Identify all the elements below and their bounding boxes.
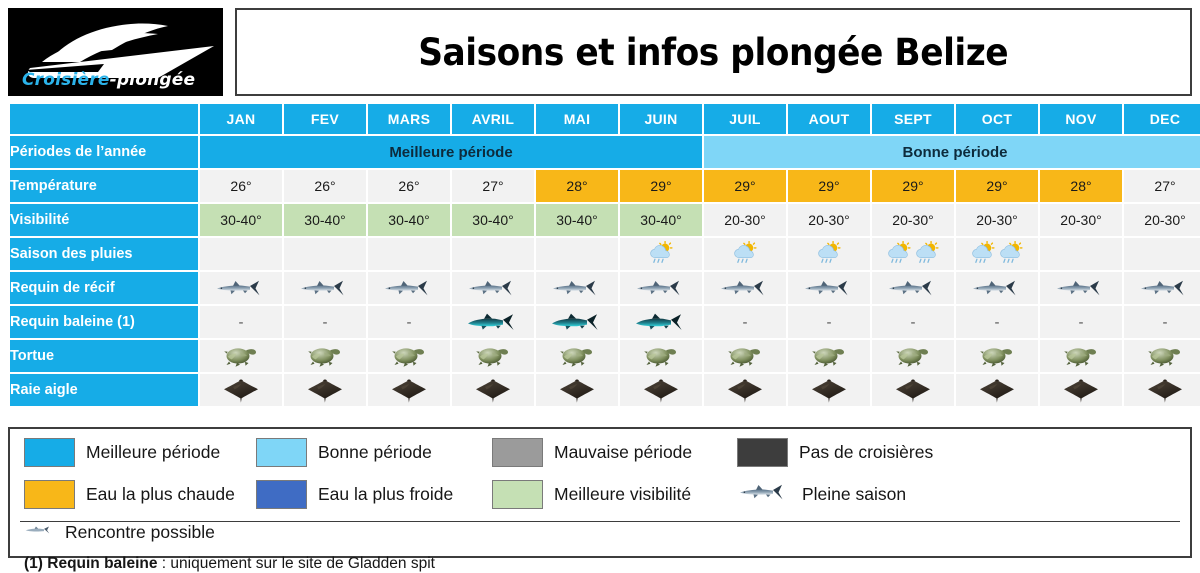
icon-group bbox=[788, 238, 870, 270]
data-cell[interactable]: 26° bbox=[284, 170, 366, 202]
icon-cell[interactable] bbox=[956, 340, 1038, 372]
seasons-table: JANFEVMARSAVRILMAIJUINJUILAOUTSEPTOCTNOV… bbox=[8, 102, 1200, 408]
legend-color-swatch bbox=[256, 480, 307, 509]
infographic-page: Croisière-plongée Saisons et infos plong… bbox=[0, 0, 1200, 566]
icon-cell[interactable]: - bbox=[788, 306, 870, 338]
legend-label: Bonne période bbox=[318, 442, 432, 463]
icon-cell[interactable] bbox=[1040, 272, 1122, 304]
eagle-ray-icon bbox=[641, 377, 681, 403]
icon-cell[interactable] bbox=[788, 374, 870, 406]
icon-group bbox=[956, 340, 1038, 372]
icon-cell[interactable] bbox=[284, 340, 366, 372]
icon-cell[interactable] bbox=[704, 374, 786, 406]
icon-cell[interactable] bbox=[704, 272, 786, 304]
icon-cell[interactable] bbox=[1040, 340, 1122, 372]
icon-group bbox=[956, 374, 1038, 406]
month-header-nov[interactable]: NOV bbox=[1040, 104, 1122, 134]
icon-cell[interactable] bbox=[872, 374, 954, 406]
icon-group bbox=[284, 272, 366, 304]
data-cell[interactable]: 29° bbox=[872, 170, 954, 202]
reef-shark-icon bbox=[718, 278, 772, 298]
reef-shark-icon bbox=[737, 482, 791, 502]
reef-shark-icon bbox=[970, 278, 1024, 298]
data-cell[interactable]: 26° bbox=[368, 170, 450, 202]
empty-marker: - bbox=[743, 314, 748, 331]
month-header-fev[interactable]: FEV bbox=[284, 104, 366, 134]
legend-item[interactable]: Eau la plus chaude bbox=[24, 480, 256, 509]
month-header-mars[interactable]: MARS bbox=[368, 104, 450, 134]
data-cell[interactable]: 26° bbox=[200, 170, 282, 202]
legend-label: Pas de croisières bbox=[799, 442, 933, 463]
icon-group bbox=[956, 272, 1038, 304]
icon-cell[interactable]: - bbox=[872, 306, 954, 338]
eagle-ray-icon bbox=[893, 377, 933, 403]
icon-cell[interactable] bbox=[956, 272, 1038, 304]
icon-group bbox=[1124, 374, 1200, 406]
eagle-ray-icon bbox=[305, 377, 345, 403]
icon-group bbox=[788, 374, 870, 406]
legend-label: Rencontre possible bbox=[65, 522, 215, 543]
icon-group bbox=[620, 340, 702, 372]
month-header-jan[interactable]: JAN bbox=[200, 104, 282, 134]
icon-group bbox=[620, 238, 702, 270]
row-label: Raie aigle bbox=[10, 374, 198, 406]
turtle-icon bbox=[641, 343, 681, 369]
icon-group bbox=[620, 374, 702, 406]
icon-group bbox=[452, 306, 534, 338]
legend-label: Pleine saison bbox=[802, 484, 906, 505]
reef-shark-icon bbox=[382, 278, 436, 298]
page-header: Croisière-plongée Saisons et infos plong… bbox=[0, 0, 1200, 96]
table-row: Tortue bbox=[10, 340, 1200, 372]
row-label: Requin de récif bbox=[10, 272, 198, 304]
turtle-icon bbox=[221, 343, 261, 369]
legend-color-swatch bbox=[492, 480, 543, 509]
icon-group bbox=[536, 340, 618, 372]
icon-cell[interactable] bbox=[620, 374, 702, 406]
icon-group bbox=[704, 272, 786, 304]
icon-group bbox=[1040, 272, 1122, 304]
data-cell[interactable]: 28° bbox=[1040, 170, 1122, 202]
reef-shark-icon bbox=[214, 278, 268, 298]
icon-group bbox=[620, 272, 702, 304]
empty-marker: - bbox=[323, 314, 328, 331]
icon-group bbox=[200, 272, 282, 304]
empty-marker: - bbox=[1163, 314, 1168, 331]
icon-group bbox=[956, 238, 1038, 270]
data-cell[interactable]: 20-30° bbox=[872, 204, 954, 236]
icon-group bbox=[284, 374, 366, 406]
data-cell[interactable]: 30-40° bbox=[368, 204, 450, 236]
icon-group bbox=[1124, 272, 1200, 304]
rain-cloud-sun-icon bbox=[648, 241, 674, 267]
empty-marker: - bbox=[995, 314, 1000, 331]
icon-cell[interactable] bbox=[200, 238, 282, 270]
icon-cell[interactable] bbox=[872, 272, 954, 304]
month-header-avril[interactable]: AVRIL bbox=[452, 104, 534, 134]
rain-cloud-sun-icon bbox=[998, 241, 1024, 267]
reef-shark-small-icon bbox=[24, 523, 54, 537]
turtle-icon bbox=[473, 343, 513, 369]
icon-cell[interactable] bbox=[368, 272, 450, 304]
row-label: Tortue bbox=[10, 340, 198, 372]
rain-cloud-sun-icon bbox=[816, 241, 842, 267]
turtle-icon bbox=[977, 343, 1017, 369]
rain-cloud-sun-icon bbox=[886, 241, 912, 267]
turtle-icon bbox=[305, 343, 345, 369]
icon-cell[interactable] bbox=[284, 374, 366, 406]
legend-label: Eau la plus chaude bbox=[86, 484, 235, 505]
legend-shark-icon bbox=[737, 482, 791, 507]
reef-shark-icon bbox=[1138, 278, 1192, 298]
icon-cell[interactable]: - bbox=[1124, 306, 1200, 338]
data-cell[interactable]: 30-40° bbox=[536, 204, 618, 236]
month-header-dec[interactable]: DEC bbox=[1124, 104, 1200, 134]
legend-label: Eau la plus froide bbox=[318, 484, 453, 505]
legend-item[interactable]: Eau la plus froide bbox=[256, 480, 492, 509]
turtle-icon bbox=[809, 343, 849, 369]
legend-item[interactable]: Pleine saison bbox=[737, 482, 1176, 507]
icon-group bbox=[368, 374, 450, 406]
icon-cell[interactable] bbox=[620, 306, 702, 338]
row-label: Visibilité bbox=[10, 204, 198, 236]
reef-shark-icon bbox=[634, 278, 688, 298]
icon-cell[interactable] bbox=[620, 238, 702, 270]
footnote-text: : uniquement sur le site de Gladden spit bbox=[158, 555, 435, 572]
icon-cell[interactable] bbox=[956, 374, 1038, 406]
turtle-icon bbox=[725, 343, 765, 369]
eagle-ray-icon bbox=[1061, 377, 1101, 403]
icon-group bbox=[452, 374, 534, 406]
icon-cell[interactable]: - bbox=[1040, 306, 1122, 338]
icon-cell[interactable] bbox=[872, 238, 954, 270]
table-row: Requin baleine (1)--- ------ bbox=[10, 306, 1200, 338]
icon-cell[interactable]: - bbox=[368, 306, 450, 338]
eagle-ray-icon bbox=[557, 377, 597, 403]
icon-cell[interactable] bbox=[1124, 272, 1200, 304]
month-header-juil[interactable]: JUIL bbox=[704, 104, 786, 134]
icon-cell[interactable] bbox=[956, 238, 1038, 270]
reef-shark-icon bbox=[550, 278, 604, 298]
row-label: Saison des pluies bbox=[10, 238, 198, 270]
legend-color-swatch bbox=[737, 438, 788, 467]
icon-cell[interactable] bbox=[452, 272, 534, 304]
legend-label: Mauvaise période bbox=[554, 442, 692, 463]
legend-item[interactable]: Mauvaise période bbox=[492, 438, 737, 467]
icon-group bbox=[1124, 340, 1200, 372]
empty-marker: - bbox=[1079, 314, 1084, 331]
data-cell[interactable]: 29° bbox=[956, 170, 1038, 202]
legend-items: Meilleure périodeBonne périodeMauvaise p… bbox=[24, 438, 1176, 543]
icon-cell[interactable] bbox=[536, 374, 618, 406]
icon-cell[interactable] bbox=[536, 306, 618, 338]
icon-group bbox=[452, 272, 534, 304]
table-row: Température26°26°26°27°28°29°29°29°29°29… bbox=[10, 170, 1200, 202]
eagle-ray-icon bbox=[1145, 377, 1185, 403]
icon-cell[interactable] bbox=[1040, 374, 1122, 406]
icon-cell[interactable] bbox=[284, 272, 366, 304]
reef-shark-icon bbox=[802, 278, 856, 298]
month-header-aout[interactable]: AOUT bbox=[788, 104, 870, 134]
brand-logo: Croisière-plongée bbox=[8, 8, 223, 96]
legend-shark-small-icon bbox=[24, 523, 54, 542]
legend-label: Meilleure période bbox=[86, 442, 220, 463]
reef-shark-icon bbox=[466, 278, 520, 298]
icon-group bbox=[872, 272, 954, 304]
icon-cell[interactable] bbox=[452, 238, 534, 270]
icon-cell[interactable] bbox=[704, 238, 786, 270]
table-row: Raie aigle bbox=[10, 374, 1200, 406]
data-cell[interactable]: 20-30° bbox=[788, 204, 870, 236]
icon-group bbox=[704, 238, 786, 270]
icon-cell[interactable] bbox=[200, 374, 282, 406]
icon-group bbox=[704, 374, 786, 406]
icon-cell[interactable] bbox=[620, 272, 702, 304]
data-cell[interactable]: 20-30° bbox=[956, 204, 1038, 236]
data-cell[interactable]: 20-30° bbox=[704, 204, 786, 236]
icon-cell[interactable] bbox=[788, 340, 870, 372]
table-head: JANFEVMARSAVRILMAIJUINJUILAOUTSEPTOCTNOV… bbox=[10, 104, 1200, 134]
eagle-ray-icon bbox=[221, 377, 261, 403]
icon-cell[interactable] bbox=[536, 340, 618, 372]
legend-item[interactable]: Rencontre possible bbox=[24, 522, 256, 543]
month-header-row: JANFEVMARSAVRILMAIJUINJUILAOUTSEPTOCTNOV… bbox=[10, 104, 1200, 134]
data-cell[interactable]: 30-40° bbox=[284, 204, 366, 236]
seasons-table-container: JANFEVMARSAVRILMAIJUINJUILAOUTSEPTOCTNOV… bbox=[0, 96, 1200, 408]
icon-group bbox=[788, 340, 870, 372]
rain-cloud-sun-icon bbox=[732, 241, 758, 267]
legend-divider bbox=[20, 521, 1180, 522]
icon-group bbox=[536, 272, 618, 304]
icon-cell[interactable]: - bbox=[704, 306, 786, 338]
icon-cell[interactable] bbox=[452, 340, 534, 372]
icon-cell[interactable] bbox=[1124, 374, 1200, 406]
icon-group bbox=[872, 238, 954, 270]
icon-group bbox=[1040, 374, 1122, 406]
icon-group bbox=[872, 340, 954, 372]
table-corner-cell bbox=[10, 104, 198, 134]
icon-cell[interactable]: - bbox=[284, 306, 366, 338]
turtle-icon bbox=[557, 343, 597, 369]
data-cell[interactable]: 20-30° bbox=[1040, 204, 1122, 236]
icon-cell[interactable] bbox=[788, 238, 870, 270]
data-cell[interactable]: 27° bbox=[1124, 170, 1200, 202]
whale-shark-icon bbox=[466, 312, 520, 332]
icon-cell[interactable] bbox=[620, 340, 702, 372]
eagle-ray-icon bbox=[389, 377, 429, 403]
title-container: Saisons et infos plongée Belize bbox=[235, 8, 1192, 96]
empty-marker: - bbox=[239, 314, 244, 331]
legend-color-swatch bbox=[24, 480, 75, 509]
eagle-ray-icon bbox=[725, 377, 765, 403]
data-cell[interactable]: 27° bbox=[452, 170, 534, 202]
rain-cloud-sun-icon bbox=[914, 241, 940, 267]
icon-group bbox=[200, 374, 282, 406]
data-cell[interactable]: 20-30° bbox=[1124, 204, 1200, 236]
eagle-ray-icon bbox=[473, 377, 513, 403]
turtle-icon bbox=[389, 343, 429, 369]
legend-panel: Meilleure périodeBonne périodeMauvaise p… bbox=[8, 427, 1192, 558]
legend-color-swatch bbox=[492, 438, 543, 467]
icon-cell[interactable] bbox=[704, 340, 786, 372]
icon-cell[interactable] bbox=[452, 306, 534, 338]
icon-group bbox=[536, 374, 618, 406]
table-row: Requin de récif bbox=[10, 272, 1200, 304]
table-row: Périodes de l’annéeMeilleure périodeBonn… bbox=[10, 136, 1200, 168]
legend-item[interactable]: Meilleure visibilité bbox=[492, 480, 737, 509]
brand-name-part1: Croisière bbox=[22, 70, 110, 90]
data-cell[interactable]: 28° bbox=[536, 170, 618, 202]
legend-label: Meilleure visibilité bbox=[554, 484, 691, 505]
icon-group bbox=[788, 272, 870, 304]
brand-name: Croisière-plongée bbox=[8, 70, 223, 96]
month-header-oct[interactable]: OCT bbox=[956, 104, 1038, 134]
icon-cell[interactable] bbox=[284, 238, 366, 270]
turtle-icon bbox=[1061, 343, 1101, 369]
icon-group bbox=[452, 340, 534, 372]
table-row: Saison des pluies bbox=[10, 238, 1200, 270]
icon-cell[interactable] bbox=[200, 340, 282, 372]
data-cell[interactable]: 29° bbox=[620, 170, 702, 202]
icon-group bbox=[704, 340, 786, 372]
data-cell[interactable]: 30-40° bbox=[452, 204, 534, 236]
page-title: Saisons et infos plongée Belize bbox=[419, 31, 1009, 74]
icon-cell[interactable] bbox=[788, 272, 870, 304]
month-header-juin[interactable]: JUIN bbox=[620, 104, 702, 134]
brand-name-part2: -plongée bbox=[110, 70, 196, 90]
icon-cell[interactable] bbox=[200, 272, 282, 304]
row-label: Température bbox=[10, 170, 198, 202]
legend-footnote: (1) Requin baleine : uniquement sur le s… bbox=[24, 555, 1176, 573]
icon-group bbox=[368, 340, 450, 372]
eagle-ray-icon bbox=[977, 377, 1017, 403]
icon-cell[interactable] bbox=[872, 340, 954, 372]
footnote-label: (1) Requin baleine bbox=[24, 555, 158, 572]
icon-group bbox=[536, 306, 618, 338]
legend-item[interactable]: Bonne période bbox=[256, 438, 492, 467]
table-row: Visibilité30-40°30-40°30-40°30-40°30-40°… bbox=[10, 204, 1200, 236]
eagle-ray-icon bbox=[809, 377, 849, 403]
reef-shark-icon bbox=[886, 278, 940, 298]
icon-cell[interactable] bbox=[536, 272, 618, 304]
data-cell[interactable]: 30-40° bbox=[620, 204, 702, 236]
data-cell[interactable]: 29° bbox=[788, 170, 870, 202]
legend-color-swatch bbox=[256, 438, 307, 467]
icon-cell[interactable] bbox=[452, 374, 534, 406]
month-header-sept[interactable]: SEPT bbox=[872, 104, 954, 134]
period-span-cell[interactable]: Meilleure période bbox=[200, 136, 702, 168]
legend-item[interactable]: Pas de croisières bbox=[737, 438, 1176, 467]
reef-shark-icon bbox=[298, 278, 352, 298]
icon-cell[interactable]: - bbox=[200, 306, 282, 338]
icon-cell[interactable] bbox=[1040, 238, 1122, 270]
icon-cell[interactable]: - bbox=[956, 306, 1038, 338]
icon-cell[interactable] bbox=[1124, 238, 1200, 270]
empty-marker: - bbox=[827, 314, 832, 331]
icon-group bbox=[872, 374, 954, 406]
icon-group bbox=[620, 306, 702, 338]
icon-group bbox=[1040, 340, 1122, 372]
row-label: Requin baleine (1) bbox=[10, 306, 198, 338]
icon-group bbox=[368, 272, 450, 304]
icon-group bbox=[200, 340, 282, 372]
data-cell[interactable]: 30-40° bbox=[200, 204, 282, 236]
rain-cloud-sun-icon bbox=[970, 241, 996, 267]
icon-cell[interactable] bbox=[368, 340, 450, 372]
row-label: Périodes de l’année bbox=[10, 136, 198, 168]
icon-cell[interactable] bbox=[368, 374, 450, 406]
legend-color-swatch bbox=[24, 438, 75, 467]
turtle-icon bbox=[893, 343, 933, 369]
icon-cell[interactable] bbox=[1124, 340, 1200, 372]
legend-item[interactable]: Meilleure période bbox=[24, 438, 256, 467]
turtle-icon bbox=[1145, 343, 1185, 369]
table-body: Périodes de l’annéeMeilleure périodeBonn… bbox=[10, 136, 1200, 406]
reef-shark-icon bbox=[1054, 278, 1108, 298]
month-header-mai[interactable]: MAI bbox=[536, 104, 618, 134]
empty-marker: - bbox=[407, 314, 412, 331]
whale-shark-icon bbox=[634, 312, 688, 332]
icon-cell[interactable] bbox=[368, 238, 450, 270]
whale-shark-icon bbox=[550, 312, 604, 332]
period-span-cell[interactable]: Bonne période bbox=[704, 136, 1200, 168]
icon-group bbox=[284, 340, 366, 372]
data-cell[interactable]: 29° bbox=[704, 170, 786, 202]
icon-cell[interactable] bbox=[536, 238, 618, 270]
empty-marker: - bbox=[911, 314, 916, 331]
